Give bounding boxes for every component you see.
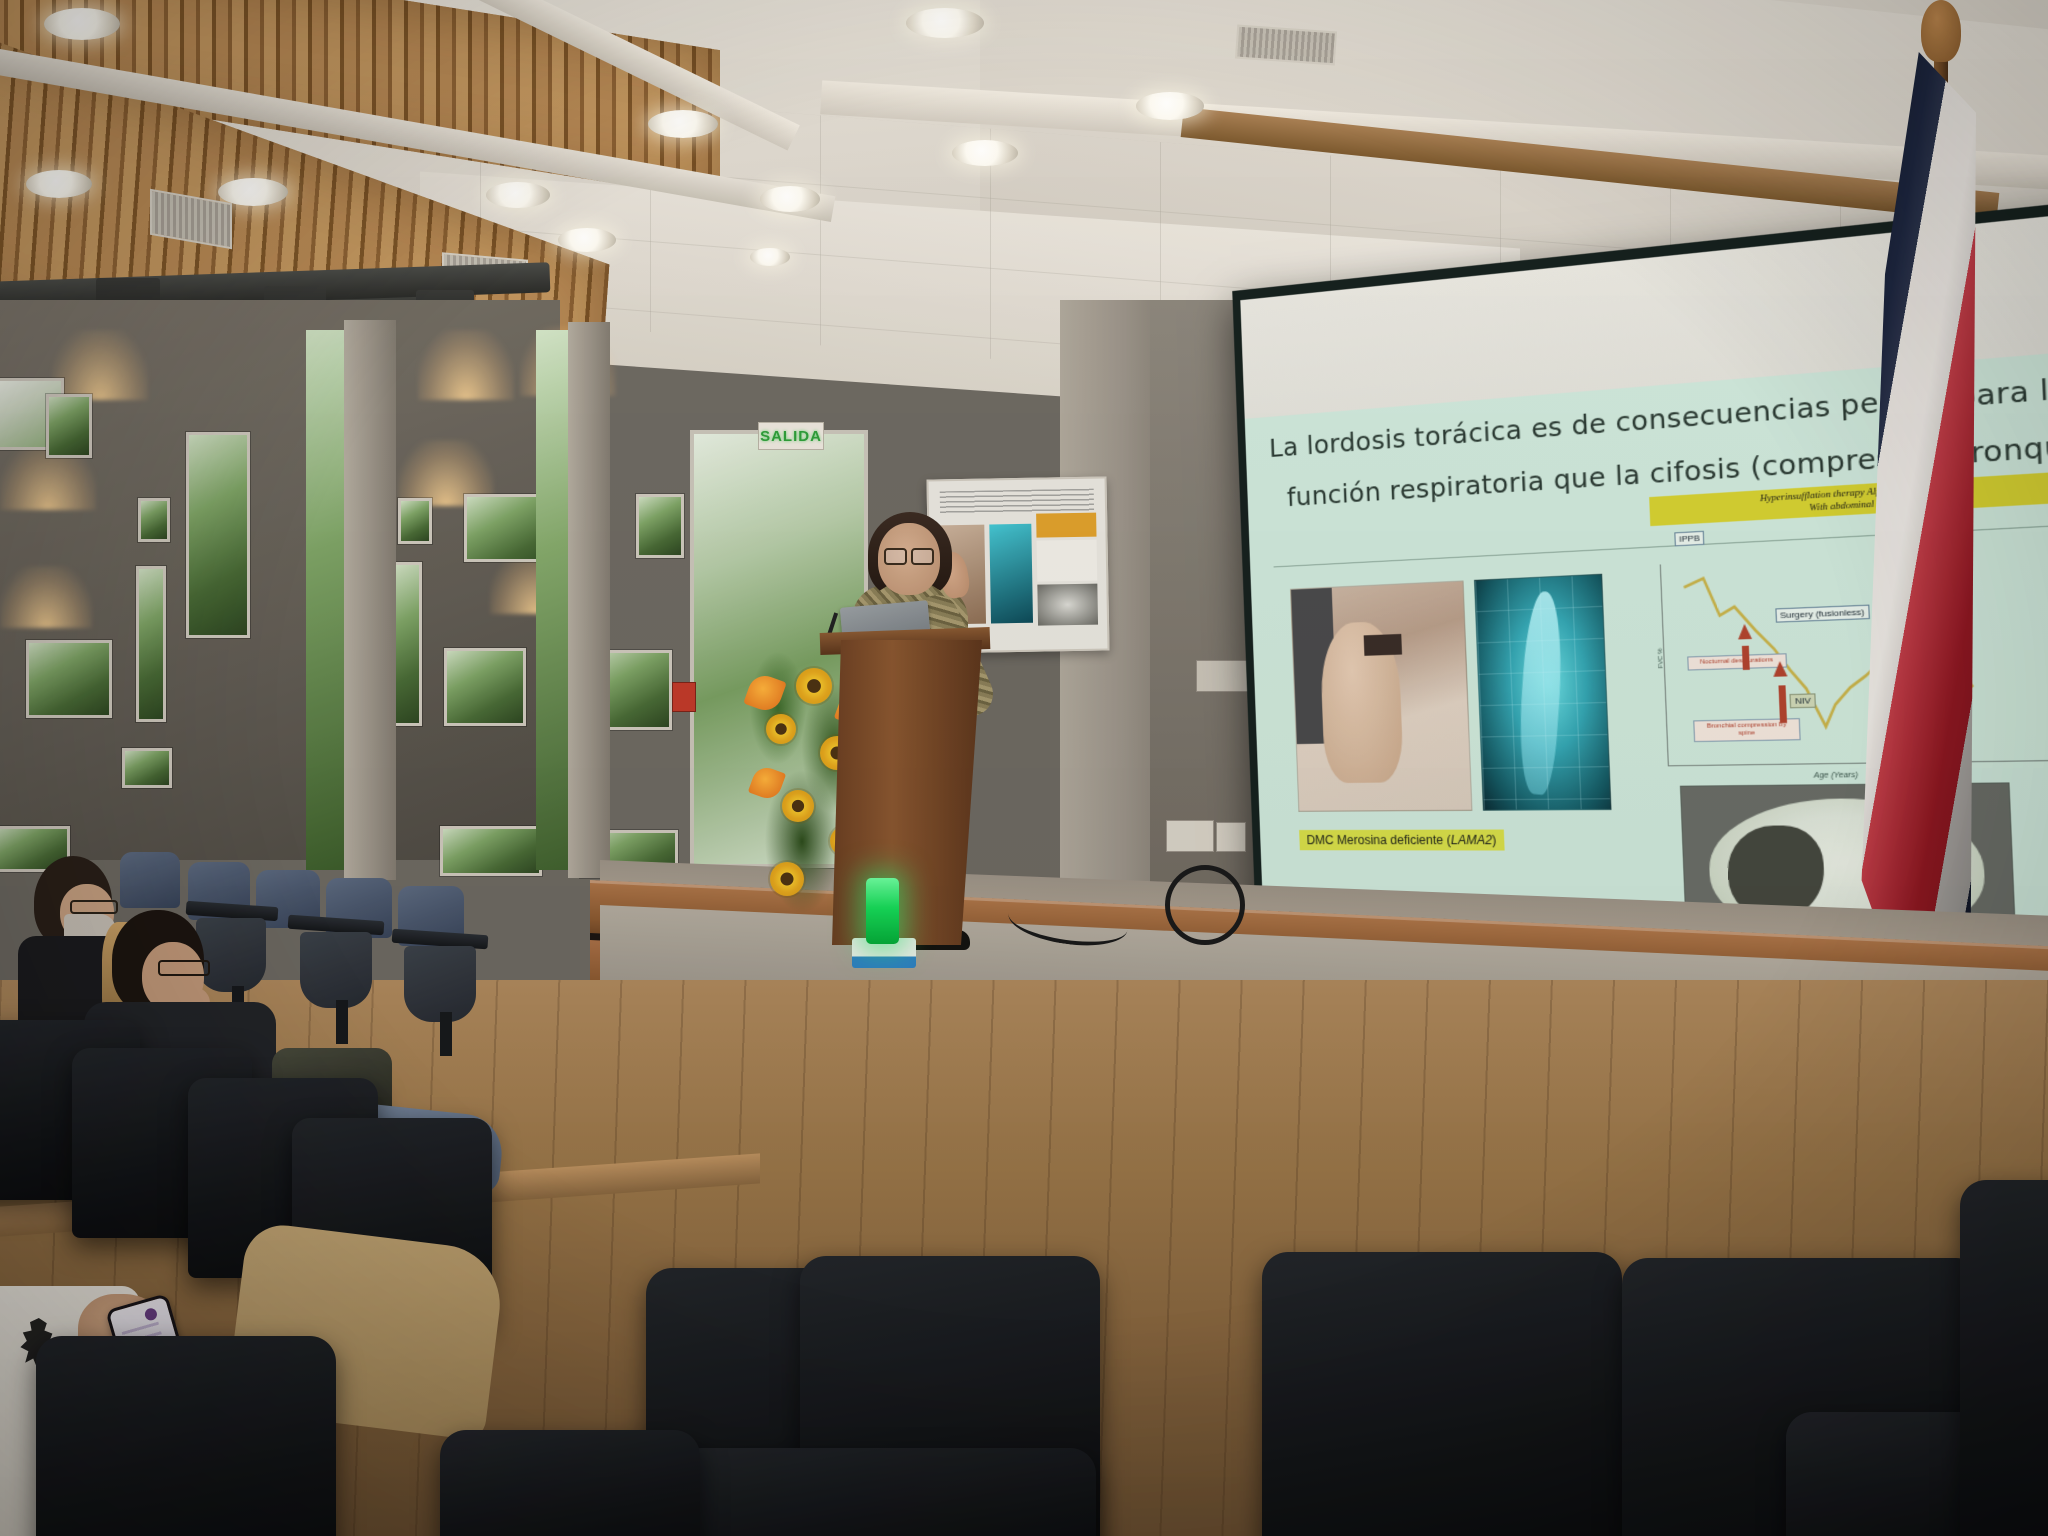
photo-eye-redaction-bar bbox=[1364, 634, 1403, 656]
wall-power-outlet bbox=[1166, 820, 1214, 852]
diagnosis-gene: LAMA2 bbox=[1450, 832, 1492, 847]
aux-display-chart bbox=[1037, 540, 1098, 582]
wall-glass-slit bbox=[306, 330, 346, 870]
radiograph-grid-overlay bbox=[1475, 575, 1610, 809]
wooden-podium bbox=[832, 640, 982, 945]
wall-window bbox=[186, 432, 250, 638]
wall-uplight-glow bbox=[418, 330, 514, 400]
chart-plot-area: IPPB Surgery (fusionless) NIV Nocturnal … bbox=[1660, 545, 2048, 766]
slide-diagnosis-label: DMC Merosina deficiente (LAMA2) bbox=[1299, 829, 1504, 850]
wall-window bbox=[136, 566, 166, 722]
aux-display-title-lines bbox=[939, 489, 1094, 515]
foreground-seat-back[interactable] bbox=[440, 1430, 700, 1536]
wall-power-outlet bbox=[1216, 822, 1246, 852]
chart-y-axis-label: FVC % bbox=[1657, 648, 1665, 669]
wall-window bbox=[122, 748, 172, 788]
eyeglass-lens-left bbox=[884, 548, 907, 565]
phone-avatar-dot bbox=[144, 1307, 159, 1322]
chart-tag-ippb: IPPB bbox=[1674, 530, 1704, 546]
chart-arrow-up-1 bbox=[1738, 623, 1753, 639]
wall-concrete-column bbox=[344, 320, 396, 880]
aux-display-ct bbox=[1038, 584, 1099, 626]
foreground-seat-back[interactable] bbox=[36, 1336, 336, 1536]
wall-window bbox=[444, 648, 526, 726]
wall-window bbox=[392, 562, 422, 726]
foreground-seat-back[interactable] bbox=[1960, 1180, 2048, 1536]
ceiling-downlight bbox=[952, 140, 1018, 166]
slide-radiograph bbox=[1474, 574, 1611, 810]
ceiling-downlight bbox=[558, 228, 616, 252]
floor-cable-coil bbox=[1165, 865, 1245, 945]
sunflower bbox=[796, 668, 832, 704]
ceiling-downlight bbox=[486, 182, 550, 208]
diagnosis-suffix: ) bbox=[1492, 832, 1497, 847]
slide-chart-block: Hyperinsufflation therapy Alpha-200 (IPP… bbox=[1632, 471, 2048, 783]
ceiling-downlight bbox=[26, 170, 92, 198]
ceiling-air-vent bbox=[1235, 25, 1337, 66]
eyeglass-lens-right bbox=[911, 548, 934, 565]
foreground-seat-back[interactable] bbox=[676, 1448, 1096, 1536]
chart-arrow-stem bbox=[1742, 646, 1750, 670]
ceiling-downlight bbox=[906, 8, 984, 38]
foreground-seat-back[interactable] bbox=[1262, 1252, 1622, 1536]
flag-finial bbox=[1921, 0, 1961, 62]
chart-tag-niv: NIV bbox=[1790, 693, 1816, 708]
speaker-eyeglasses bbox=[884, 548, 932, 561]
wall-window bbox=[398, 498, 432, 544]
seat-back-panel[interactable] bbox=[404, 946, 476, 1022]
green-timer-lamp bbox=[866, 878, 899, 944]
wall-window bbox=[138, 498, 170, 542]
wall-window bbox=[46, 394, 92, 458]
fire-alarm-box bbox=[672, 682, 696, 712]
chart-arrow-up-2 bbox=[1773, 661, 1788, 677]
exit-sign: SALIDA bbox=[758, 422, 824, 450]
ceiling-downlight bbox=[648, 110, 718, 138]
slide-clinical-photo bbox=[1290, 581, 1472, 812]
ceiling-downlight bbox=[760, 186, 820, 212]
sunflower bbox=[766, 714, 796, 744]
aux-display-banner bbox=[1036, 513, 1096, 538]
seat-leg bbox=[336, 1000, 348, 1044]
ceiling-downlight bbox=[750, 248, 790, 266]
sunflower bbox=[770, 862, 804, 896]
wall-uplight-glow bbox=[52, 330, 148, 400]
auditorium-photo: SALIDA La lordosis torácica es de consec… bbox=[0, 0, 2048, 1536]
diagnosis-prefix: DMC Merosina deficiente ( bbox=[1306, 832, 1451, 847]
wall-uplight-glow bbox=[0, 566, 92, 628]
wall-window bbox=[26, 640, 112, 718]
ceiling-downlight bbox=[1136, 92, 1204, 120]
aux-display-radiograph bbox=[989, 524, 1033, 623]
sunflower bbox=[782, 790, 814, 822]
chart-arrow-stem bbox=[1778, 686, 1787, 724]
chart-tag-nocturnal-desaturations: Nocturnal desaturations bbox=[1687, 653, 1787, 671]
seat-leg bbox=[440, 1012, 452, 1056]
ceiling-downlight bbox=[44, 8, 120, 40]
